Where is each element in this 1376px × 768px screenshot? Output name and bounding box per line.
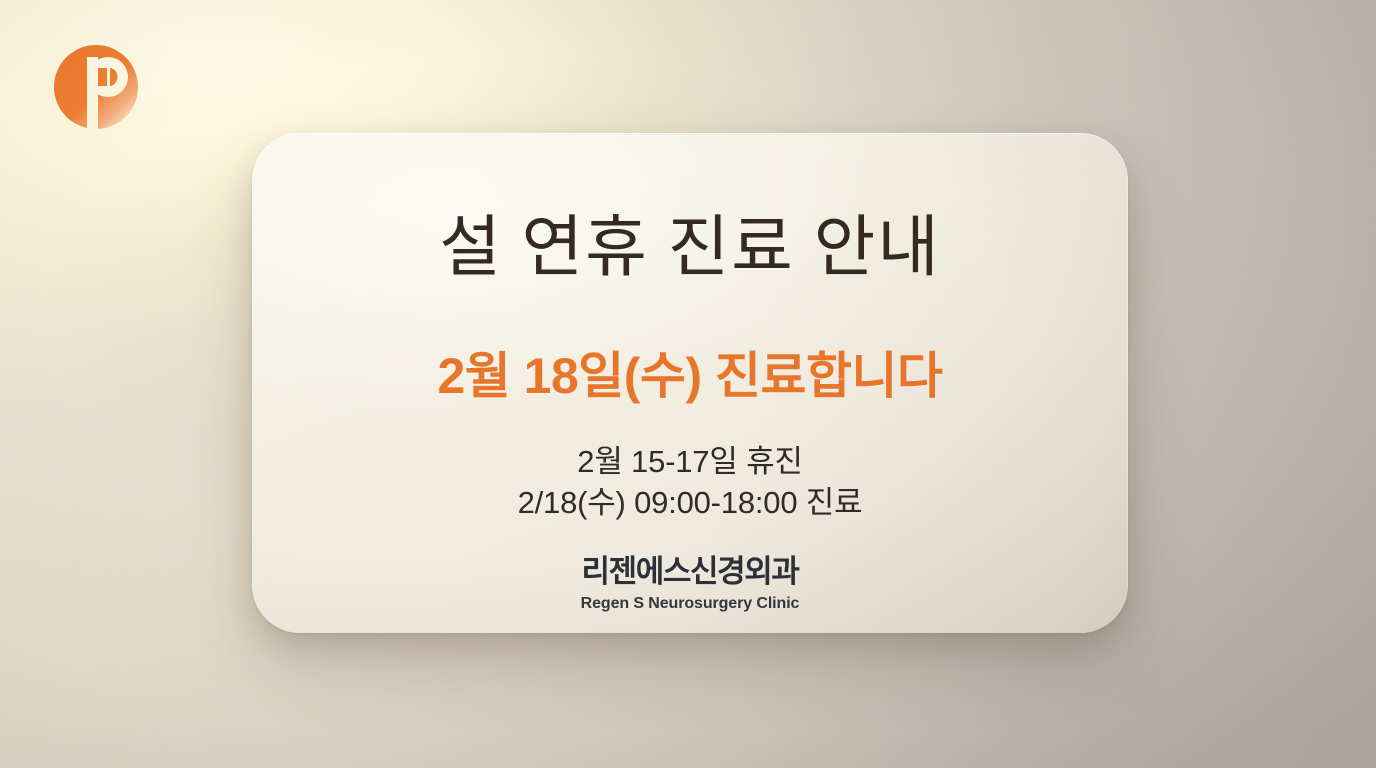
detail-open-hours: 2/18(수) 09:00-18:00 진료: [518, 482, 863, 523]
regen-s-logo[interactable]: [54, 41, 142, 133]
detail-closed-dates: 2월 15-17일 휴진: [518, 441, 863, 482]
page-title: 설 연휴 진료 안내: [439, 215, 941, 282]
clinic-brand: 리젠에스신경외과 Regen S Neurosurgery Clinic: [581, 555, 800, 612]
notice-poster: 설 연휴 진료 안내 2월 18일(수) 진료합니다 2월 15-17일 휴진 …: [0, 0, 1376, 768]
notice-card: 설 연휴 진료 안내 2월 18일(수) 진료합니다 2월 15-17일 휴진 …: [252, 133, 1128, 633]
headline-open-date: 2월 18일(수) 진료합니다: [437, 351, 942, 401]
clinic-name-english: Regen S Neurosurgery Clinic: [581, 594, 800, 613]
clinic-name-korean: 리젠에스신경외과: [581, 555, 800, 589]
schedule-details: 2월 15-17일 휴진 2/18(수) 09:00-18:00 진료: [518, 441, 863, 523]
